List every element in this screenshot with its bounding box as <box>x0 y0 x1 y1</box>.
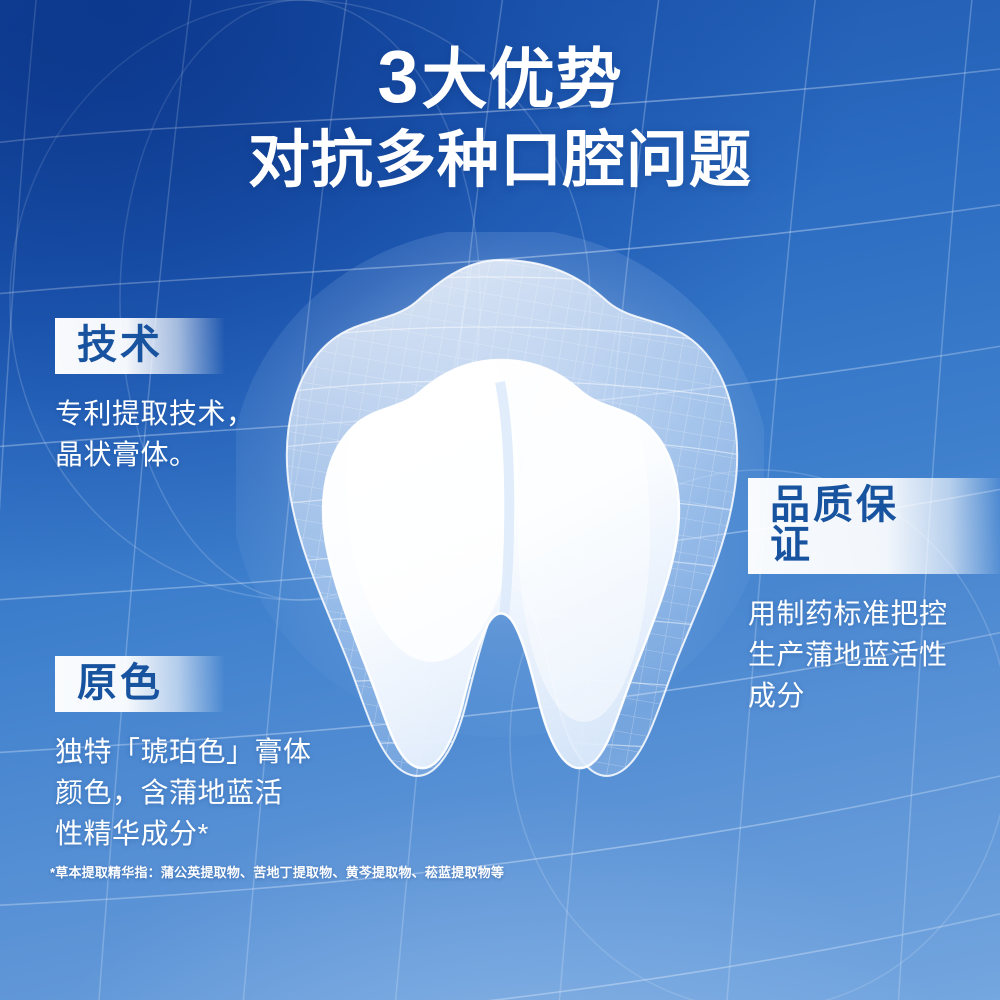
tooth-illustration <box>236 232 764 792</box>
feature-color-description: 独特「琥珀色」膏体 颜色，含蒲地蓝活 性精华成分* <box>55 732 312 855</box>
feature-quality-label: 品质保证 <box>770 485 938 565</box>
headline-line-2: 对抗多种口腔问题 <box>0 128 1000 195</box>
feature-color-label: 原色 <box>77 663 163 703</box>
headline-line-1: 3大优势 <box>0 40 1000 114</box>
headline-number: 3 <box>377 35 421 118</box>
feature-quality: 品质保证 用制药标准把控 生产蒲地蓝活性 成分 <box>748 478 1000 717</box>
feature-tech-description: 专利提取技术， 晶状膏体。 <box>55 394 255 476</box>
feature-tech-label-box: 技术 <box>55 318 225 374</box>
feature-tech-label: 技术 <box>77 325 163 365</box>
feature-color-label-box: 原色 <box>55 656 225 712</box>
footnote: *草本提取精华指：蒲公英提取物、苦地丁提取物、黄芩提取物、菘蓝提取物等 <box>50 862 504 881</box>
feature-tech: 技术 专利提取技术， 晶状膏体。 <box>55 318 255 476</box>
headline-line-1-text: 大优势 <box>422 42 623 116</box>
feature-quality-description: 用制药标准把控 生产蒲地蓝活性 成分 <box>748 594 1000 717</box>
feature-color: 原色 独特「琥珀色」膏体 颜色，含蒲地蓝活 性精华成分* <box>55 656 312 855</box>
poster-canvas: 3大优势 对抗多种口腔问题 <box>0 0 1000 1000</box>
feature-quality-label-box: 品质保证 <box>748 478 1000 574</box>
page-title: 3大优势 对抗多种口腔问题 <box>0 40 1000 195</box>
